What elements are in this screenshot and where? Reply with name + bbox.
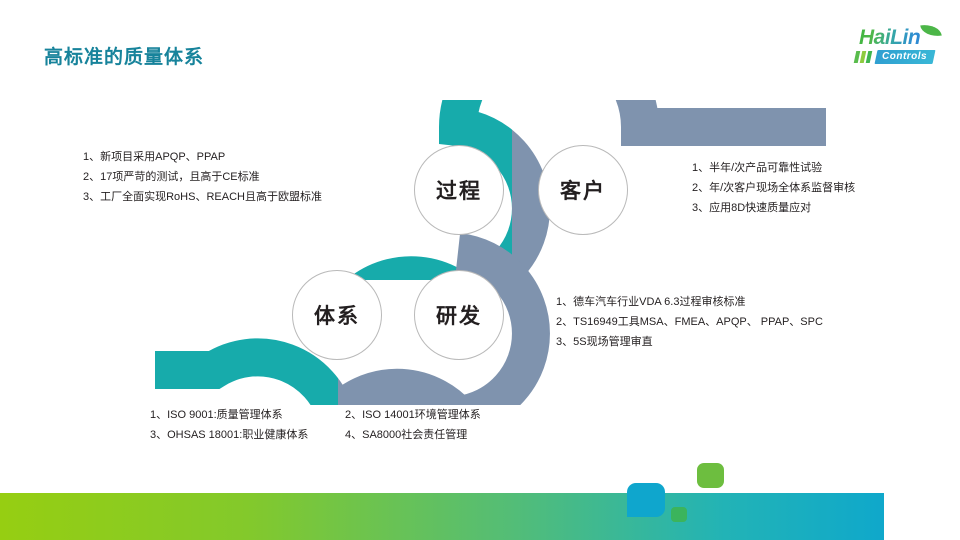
list-item: 2、TS16949工具MSA、FMEA、APQP、 PPAP、SPC [556, 312, 823, 332]
list-item: 1、新项目采用APQP、PPAP [83, 147, 322, 167]
node-system-label: 体系 [314, 300, 360, 330]
text-block-middle-right: 1、德车汽车行业VDA 6.3过程审核标准 2、TS16949工具MSA、FME… [556, 292, 823, 352]
node-system[interactable]: 体系 [292, 270, 382, 360]
footer-gradient-bar [0, 493, 884, 540]
node-customer[interactable]: 客户 [538, 145, 628, 235]
list-item: 3、OHSAS 18001:职业健康体系 4、SA8000社会责任管理 [150, 425, 545, 445]
list-item-col1: 1、ISO 9001:质量管理体系 [150, 405, 345, 425]
hailin-logo: HaiLin Controls [843, 26, 951, 68]
logo-bars-icon [855, 51, 871, 63]
list-item-col1: 3、OHSAS 18001:职业健康体系 [150, 425, 345, 445]
logo-wordmark: HaiLin [859, 26, 920, 50]
text-block-bottom-left: 1、ISO 9001:质量管理体系 2、ISO 14001环境管理体系 3、OH… [150, 405, 545, 445]
text-block-top-right: 1、半年/次产品可靠性试验 2、年/次客户现场全体系监督审核 3、应用8D快速质… [692, 158, 855, 218]
deco-square-green [697, 463, 724, 488]
slide-root: 高标准的质量体系 HaiLin Controls [0, 0, 960, 540]
node-process[interactable]: 过程 [414, 145, 504, 235]
logo-banner: Controls [875, 50, 936, 64]
list-item: 3、5S现场管理审直 [556, 332, 823, 352]
list-item-col2: 2、ISO 14001环境管理体系 [345, 405, 545, 425]
text-block-top-left: 1、新项目采用APQP、PPAP 2、17项严苛的测试，且高于CE标准 3、工厂… [83, 147, 322, 207]
list-item: 1、德车汽车行业VDA 6.3过程审核标准 [556, 292, 823, 312]
list-item: 3、应用8D快速质量应对 [692, 198, 855, 218]
list-item-col2: 4、SA8000社会责任管理 [345, 425, 545, 445]
logo-banner-label: Controls [882, 50, 927, 64]
list-item: 1、ISO 9001:质量管理体系 2、ISO 14001环境管理体系 [150, 405, 545, 425]
node-process-label: 过程 [436, 175, 482, 205]
leaf-icon [920, 23, 942, 39]
deco-square-small-green [671, 507, 687, 522]
list-item: 2、17项严苛的测试，且高于CE标准 [83, 167, 322, 187]
node-customer-label: 客户 [560, 175, 606, 205]
list-item: 2、年/次客户现场全体系监督审核 [692, 178, 855, 198]
node-rd[interactable]: 研发 [414, 270, 504, 360]
page-title: 高标准的质量体系 [44, 42, 204, 69]
list-item: 3、工厂全面实现RoHS、REACH且高于欧盟标准 [83, 187, 322, 207]
list-item: 1、半年/次产品可靠性试验 [692, 158, 855, 178]
process-ribbon [0, 0, 960, 540]
deco-square-cyan [627, 483, 665, 517]
node-rd-label: 研发 [436, 300, 482, 330]
